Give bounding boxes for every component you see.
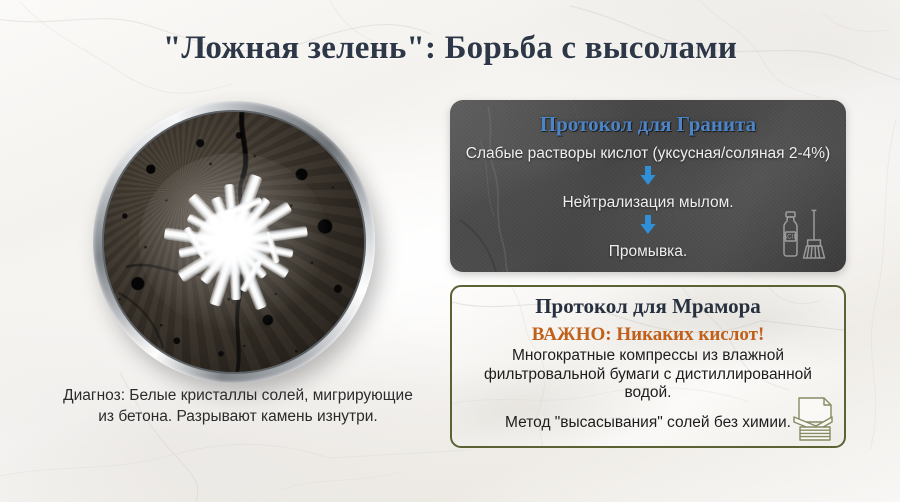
- marble-warning-text: ВАЖНО: Никаких кислот!: [452, 324, 844, 346]
- marble-protocol-panel: Протокол для Мрамора ВАЖНО: Никаких кисл…: [450, 285, 846, 448]
- page-title: "Ложная зелень": Борьба с высолами: [0, 30, 900, 67]
- silver-frame-ring: [93, 101, 375, 383]
- photo-content: [102, 110, 366, 374]
- granite-step-1: Слабые растворы кислот (уксусная/соляная…: [450, 145, 846, 163]
- marble-body-text: Многократные компрессы из влажной фильтр…: [466, 347, 830, 403]
- granite-protocol-panel: Протокол для Гранита Слабые растворы кис…: [450, 100, 846, 272]
- acid-label: ACID: [783, 234, 799, 241]
- efflorescence-photo: [93, 101, 375, 383]
- photo-caption: Диагноз: Белые кристаллы солей, мигрирую…: [60, 385, 416, 428]
- granite-panel-title: Протокол для Гранита: [450, 112, 846, 137]
- arrow-down-icon: [637, 215, 659, 235]
- background-vein-right-mid: [840, 120, 900, 450]
- crystal-core: [197, 209, 271, 275]
- acid-bottle-and-brush-icon: ACID: [778, 208, 834, 264]
- arrow-down-icon: [637, 166, 659, 186]
- slide-canvas: "Ложная зелень": Борьба с высолами: [0, 0, 900, 502]
- marble-panel-title: Протокол для Мрамора: [452, 294, 844, 319]
- paper-compress-stack-icon: [786, 395, 838, 443]
